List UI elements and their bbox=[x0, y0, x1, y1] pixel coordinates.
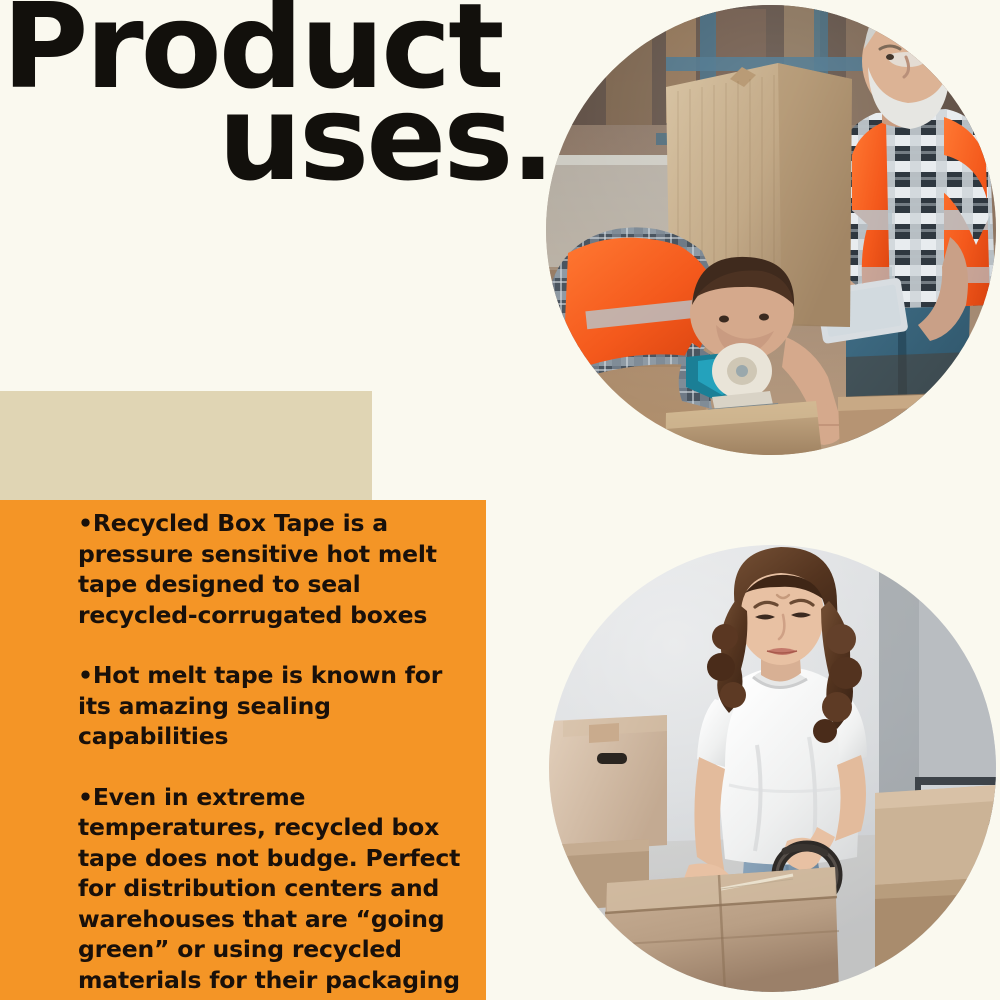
warehouse-workers-photo bbox=[546, 5, 996, 455]
page-title: Product uses. bbox=[0, 0, 560, 184]
woman-taping-box-photo bbox=[549, 545, 996, 992]
list-item: •Recycled Box Tape is a pressure sensiti… bbox=[78, 508, 482, 630]
product-uses-list: •Recycled Box Tape is a pressure sensiti… bbox=[78, 508, 482, 1000]
beige-accent-block bbox=[0, 391, 372, 503]
poster-canvas: Product uses. •Recycled Box Tape is a pr… bbox=[0, 0, 1000, 1000]
list-item: •Hot melt tape is known for its amazing … bbox=[78, 660, 482, 752]
list-item: •Even in extreme temperatures, recycled … bbox=[78, 782, 482, 1000]
